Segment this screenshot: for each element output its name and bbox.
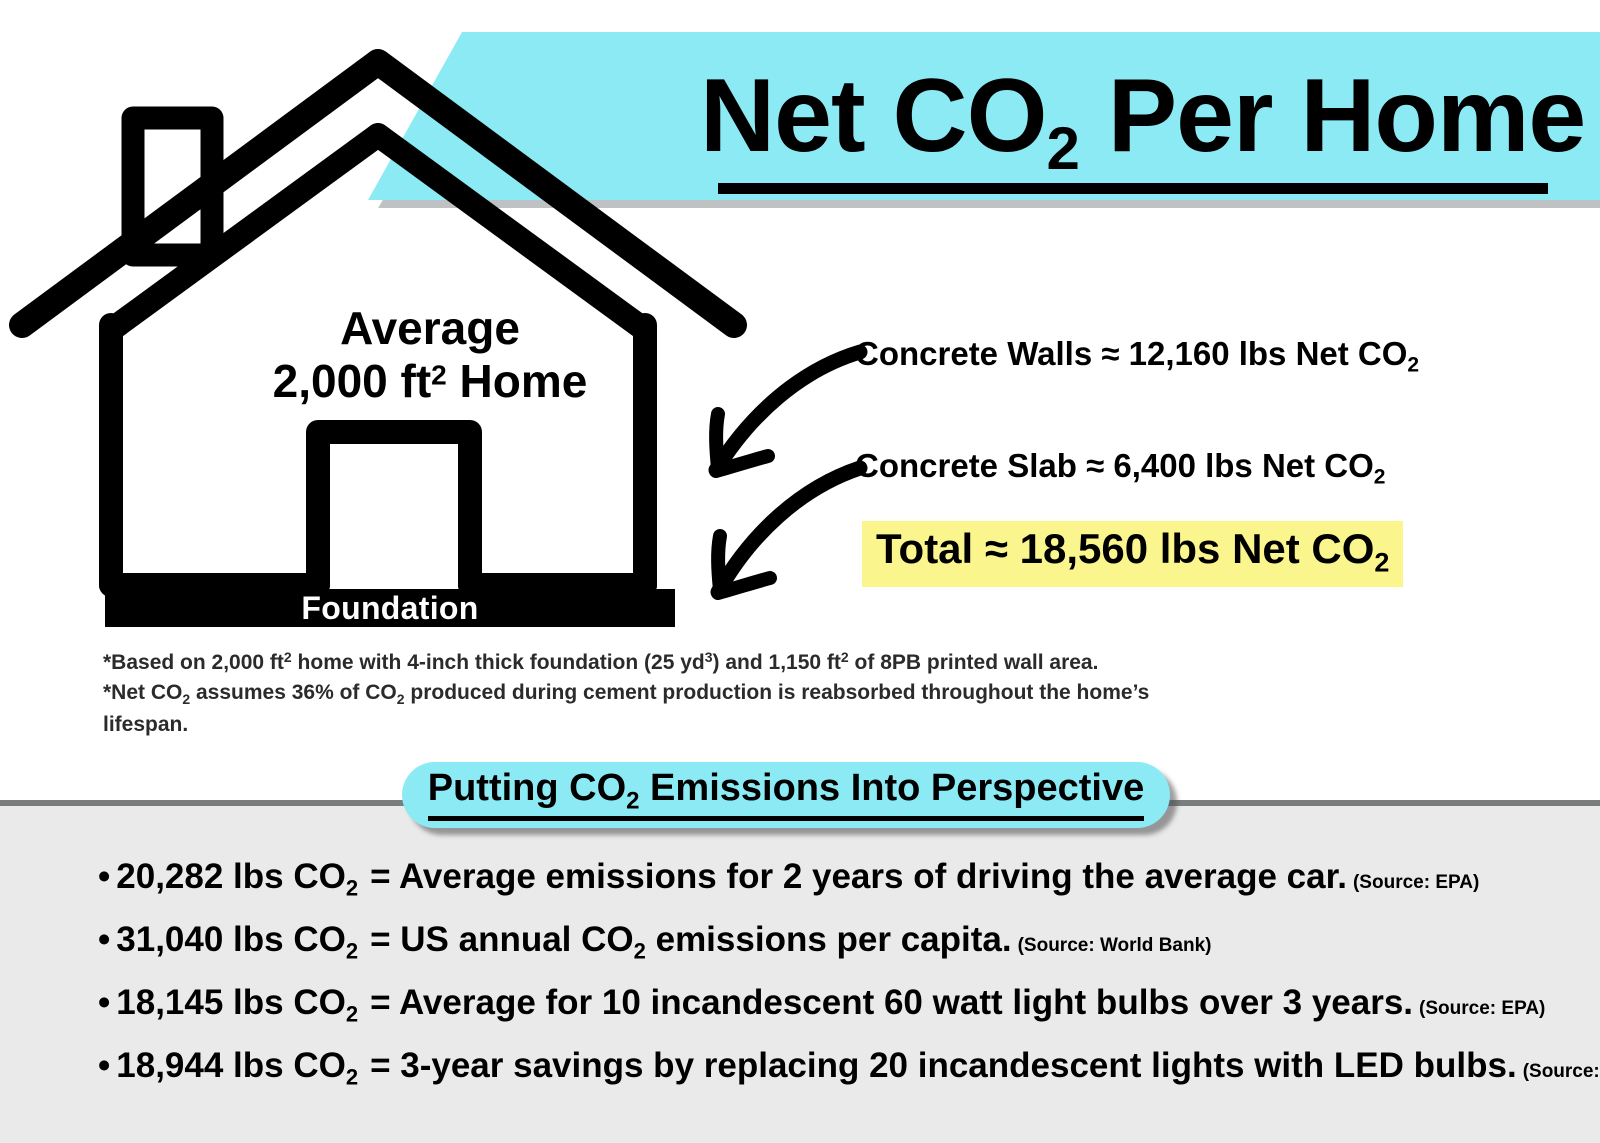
- bullet-description-tail: emissions per capita.: [646, 920, 1012, 959]
- bullet-dot-icon: •: [98, 857, 110, 896]
- bullet-source: (Source: World Bank): [1018, 935, 1212, 956]
- bullet-amount: 18,944 lbs CO: [116, 1046, 346, 1085]
- bullet-description: = Average emissions for 2 years of drivi…: [370, 857, 1347, 896]
- footnote2-sub1: 2: [182, 691, 190, 707]
- footnote-line-2: *Net CO2 assumes 36% of CO2 produced dur…: [103, 678, 1203, 740]
- callout-walls-subscript: 2: [1407, 354, 1419, 377]
- list-item: •18,944 lbs CO2= 3-year savings by repla…: [98, 1045, 1538, 1091]
- bullet-amount: 20,282 lbs CO: [116, 857, 346, 896]
- callout-concrete-slab: Concrete Slab ≈ 6,400 lbs Net CO2: [855, 447, 1385, 490]
- house-label-line1: Average: [200, 302, 660, 355]
- perspective-heading-before: Putting CO: [428, 767, 626, 809]
- bullet-description-subscript: 2: [634, 938, 646, 963]
- footnote1-b: home with 4-inch thick foundation (25 yd: [292, 651, 705, 674]
- infographic-canvas: Net CO2 Per Home Average 2,000 ft2 Home: [0, 0, 1600, 1143]
- house-label-line2: 2,000 ft2 Home: [200, 355, 660, 408]
- total-subscript: 2: [1374, 548, 1389, 578]
- callout-walls-text: Concrete Walls ≈ 12,160 lbs Net CO: [855, 335, 1407, 372]
- title-tail-text: Per Home: [1080, 58, 1585, 174]
- callout-slab-subscript: 2: [1374, 466, 1386, 489]
- bullet-amount: 31,040 lbs CO: [116, 920, 346, 959]
- title-underline: [718, 183, 1548, 194]
- bullet-dot-icon: •: [98, 920, 110, 959]
- bullet-description: = 3-year savings by replacing 20 incande…: [370, 1046, 1517, 1085]
- total-highlight-box: Total ≈ 18,560 lbs Net CO2: [862, 521, 1403, 587]
- footnote1-sup1: 2: [284, 649, 292, 665]
- footnote1-a: *Based on 2,000 ft: [103, 651, 284, 674]
- total-text: Total ≈ 18,560 lbs Net CO: [876, 525, 1374, 572]
- perspective-bullet-list: •20,282 lbs CO2= Average emissions for 2…: [98, 856, 1538, 1107]
- bullet-dot-icon: •: [98, 1046, 110, 1085]
- house-area-tail: Home: [447, 355, 588, 407]
- list-item: •20,282 lbs CO2= Average emissions for 2…: [98, 856, 1538, 902]
- bullet-subscript: 2: [346, 1064, 358, 1089]
- bullet-source: (Source: EPA): [1353, 872, 1479, 893]
- foundation-label: Foundation: [301, 590, 478, 627]
- bullet-subscript: 2: [346, 938, 358, 963]
- bullet-subscript: 2: [346, 875, 358, 900]
- footnote-line-1: *Based on 2,000 ft2 home with 4-inch thi…: [103, 648, 1203, 678]
- house-label: Average 2,000 ft2 Home: [200, 302, 660, 409]
- footnote1-d: of 8PB printed wall area.: [849, 651, 1099, 674]
- title-subscript: 2: [1046, 115, 1079, 182]
- bullet-subscript: 2: [346, 1001, 358, 1026]
- callout-slab-text: Concrete Slab ≈ 6,400 lbs Net CO: [855, 447, 1374, 484]
- page-title: Net CO2 Per Home: [700, 64, 1560, 179]
- bullet-amount: 18,145 lbs CO: [116, 983, 346, 1022]
- list-item: •18,145 lbs CO2= Average for 10 incandes…: [98, 982, 1538, 1028]
- perspective-heading-pill: Putting CO2 Emissions Into Perspective: [402, 762, 1170, 828]
- bullet-description: = US annual CO: [370, 920, 634, 959]
- house-area-value: 2,000 ft: [273, 355, 432, 407]
- house-area-superscript: 2: [431, 360, 447, 391]
- perspective-heading-subscript: 2: [626, 788, 639, 815]
- footnote1-sup3: 2: [841, 649, 849, 665]
- footnote1-c: ) and 1,150 ft: [713, 651, 841, 674]
- foundation-bar: Foundation: [105, 589, 675, 627]
- bullet-description: = Average for 10 incandescent 60 watt li…: [370, 983, 1413, 1022]
- footnote1-sup2: 3: [705, 649, 713, 665]
- bullet-source: (Source: EPA): [1419, 998, 1545, 1019]
- bullet-dot-icon: •: [98, 983, 110, 1022]
- bullet-source: (Source: EPA): [1523, 1061, 1600, 1082]
- callout-concrete-walls: Concrete Walls ≈ 12,160 lbs Net CO2: [855, 335, 1419, 378]
- footnotes: *Based on 2,000 ft2 home with 4-inch thi…: [103, 648, 1203, 739]
- footnote2-sub2: 2: [397, 691, 405, 707]
- perspective-heading: Putting CO2 Emissions Into Perspective: [428, 769, 1145, 821]
- list-item: •31,040 lbs CO2= US annual CO2 emissions…: [98, 919, 1538, 965]
- perspective-heading-after: Emissions Into Perspective: [640, 767, 1145, 809]
- footnote2-b: assumes 36% of CO: [190, 681, 397, 704]
- footnote2-a: *Net CO: [103, 681, 182, 704]
